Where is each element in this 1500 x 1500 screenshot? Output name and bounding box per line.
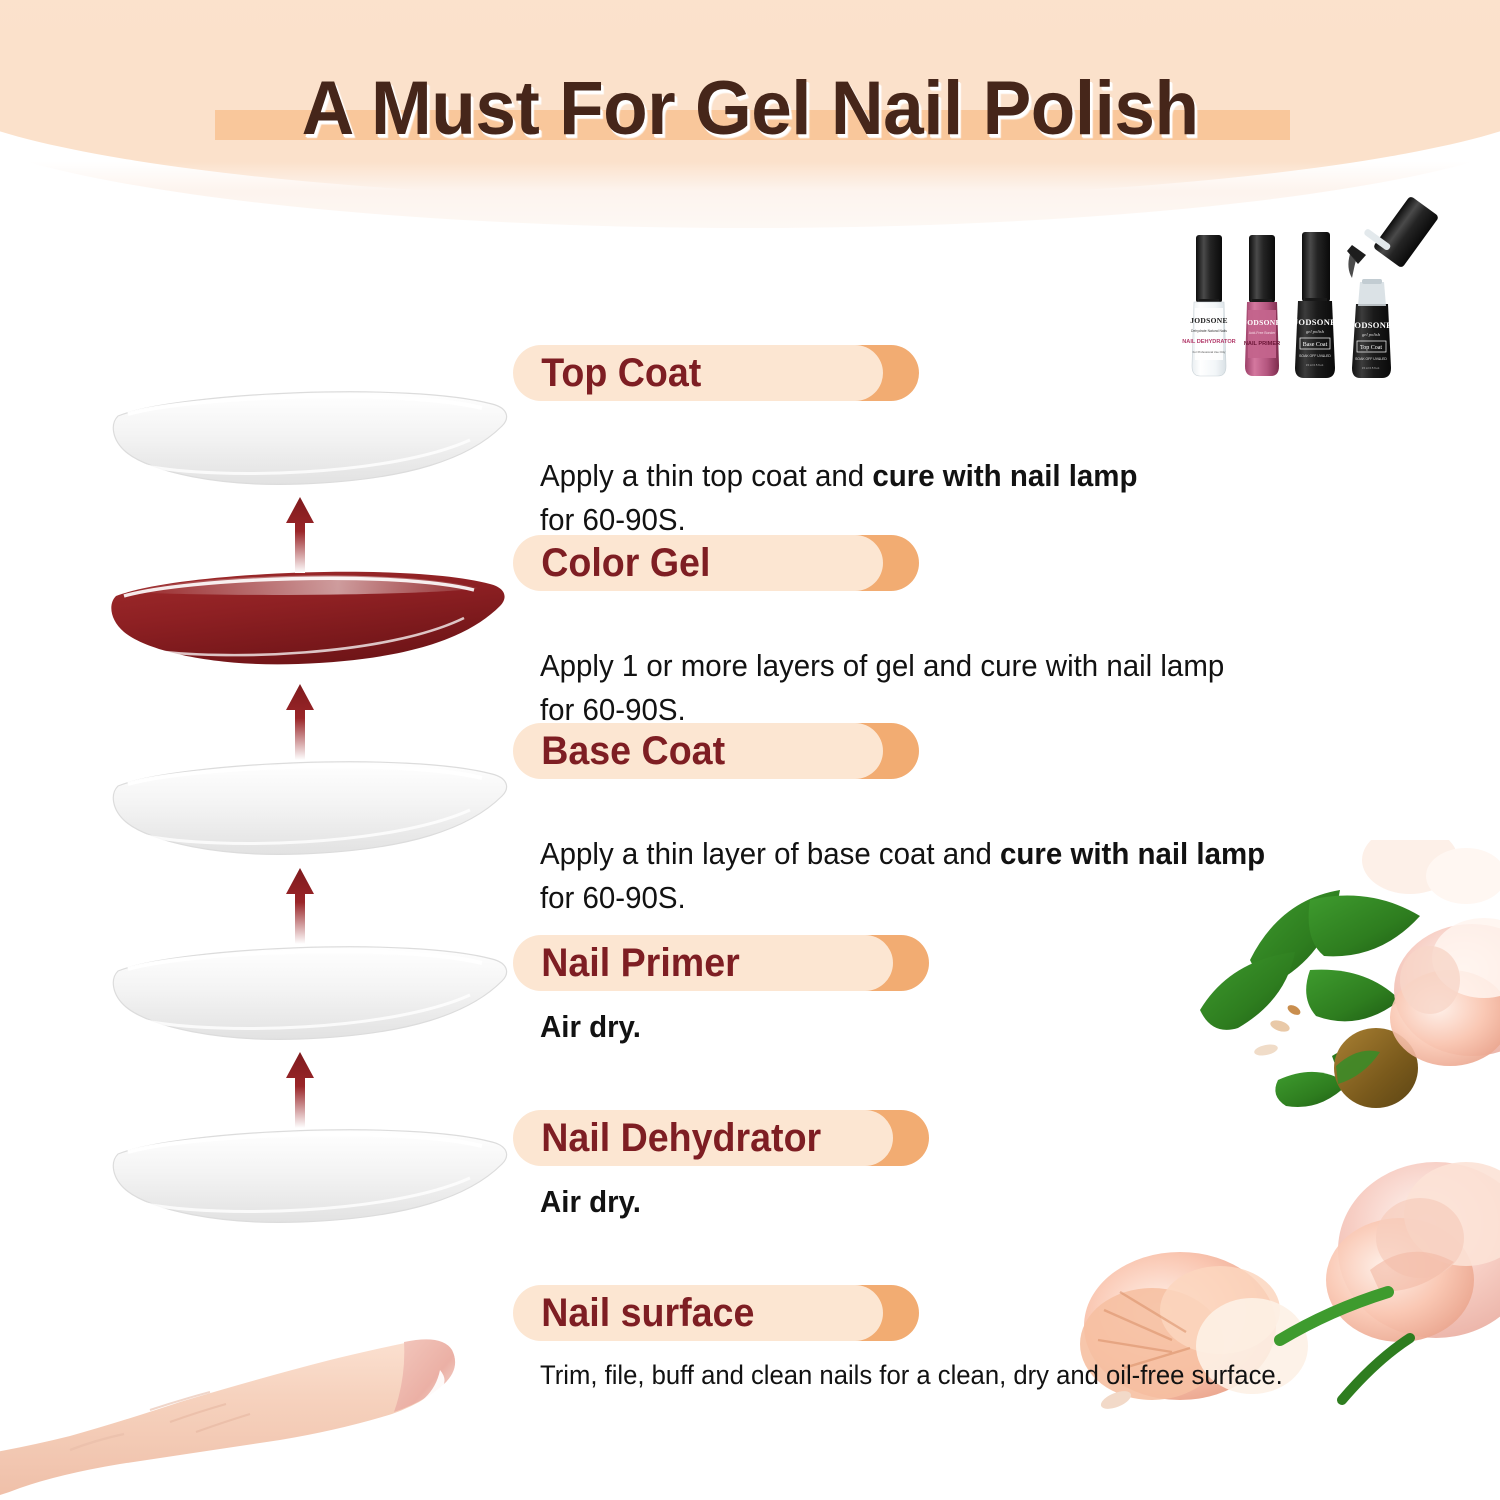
body-text-bold: cure with nail lamp [872, 458, 1137, 493]
bottle-primer: JODSONE Acid-Free Bonder NAIL PRIMER [1243, 235, 1281, 376]
step-pill-color-gel: Color Gel [513, 535, 757, 591]
infographic-page: A Must For Gel Nail Polish [0, 0, 1500, 1500]
arrow-up-icon-2 [283, 682, 317, 760]
arrow-up-icon-1 [283, 495, 317, 573]
step-body-color-gel: Apply 1 or more layers of gel and cure w… [540, 601, 1224, 731]
svg-text:NAIL DEHYDRATOR: NAIL DEHYDRATOR [1182, 339, 1235, 345]
step-body-nail-surface: Trim, file, buff and clean nails for a c… [540, 1357, 1283, 1395]
step-pill-nail-surface: Nail surface [513, 1285, 804, 1341]
step-color-gel: Color Gel Apply 1 or more layers of gel … [513, 535, 1260, 731]
step-label-nail-surface: Nail surface [513, 1285, 786, 1341]
svg-text:NAIL PRIMER: NAIL PRIMER [1244, 341, 1280, 347]
step-body-nail-dehydrator: Air dry. [540, 1180, 858, 1223]
step-nail-surface: Nail surface Trim, file, buff and clean … [513, 1285, 1322, 1395]
step-pill-nail-dehydrator: Nail Dehydrator [513, 1110, 875, 1166]
brush-applicator [1347, 196, 1439, 278]
bottle-dehydrator: JODSONE Dehydrate Natural Nails NAIL DEH… [1182, 235, 1235, 376]
svg-text:Top Coat: Top Coat [1360, 345, 1382, 351]
petal-top [1362, 840, 1500, 904]
page-title: A Must For Gel Nail Polish [302, 65, 1199, 152]
body-text-bold: cure with nail lamp [1000, 836, 1265, 871]
svg-text:gel polish: gel polish [1306, 329, 1325, 334]
svg-text:Base Coat: Base Coat [1303, 342, 1328, 348]
bottle-top-coat: JODSONE gel polish Top Coat SOAK OFF UV&… [1350, 279, 1392, 378]
layer-plate-base-coat [110, 750, 510, 862]
step-label-top-coat: Top Coat [513, 345, 733, 401]
step-pill-top-coat: Top Coat [513, 345, 747, 401]
step-label-base-coat: Base Coat [513, 723, 757, 779]
page-title-container: A Must For Gel Nail Polish [0, 62, 1500, 154]
layer-plate-top-coat [110, 380, 510, 492]
body-text-tail: for 60-90S. [540, 502, 686, 537]
layer-plate-color-gel [108, 560, 508, 672]
bottle-base-coat: JODSONE gel polish Base Coat SOAK OFF UV… [1294, 232, 1336, 378]
arrow-up-icon-4 [283, 1050, 317, 1128]
step-nail-primer: Nail Primer Air dry. [513, 935, 788, 1048]
svg-text:Dehydrate Natural Nails: Dehydrate Natural Nails [1191, 329, 1227, 333]
svg-text:15 ml 0.5 fl.oz.: 15 ml 0.5 fl.oz. [1362, 366, 1380, 370]
peony-bottom-right [1326, 1162, 1500, 1342]
body-text-plain: Apply a thin top coat and [540, 458, 872, 493]
layer-plate-nail-dehydrator [110, 1118, 510, 1230]
step-pill-nail-primer: Nail Primer [513, 935, 788, 991]
svg-text:Acid-Free Bonder: Acid-Free Bonder [1249, 331, 1276, 335]
step-body-nail-primer: Air dry. [540, 1005, 776, 1048]
svg-text:SOAK OFF UV&LED: SOAK OFF UV&LED [1355, 357, 1387, 361]
svg-text:15 ml 0.5 fl.oz.: 15 ml 0.5 fl.oz. [1306, 363, 1324, 367]
svg-text:gel polish: gel polish [1362, 332, 1381, 337]
step-base-coat: Base Coat Apply a thin layer of base coa… [513, 723, 1303, 919]
step-label-color-gel: Color Gel [513, 535, 742, 591]
body-text-plain: Apply a thin layer of base coat and [540, 836, 1000, 871]
step-label-nail-primer: Nail Primer [513, 935, 772, 991]
svg-text:JODSONE: JODSONE [1350, 320, 1392, 330]
finger-illustration [0, 1250, 500, 1500]
svg-text:SOAK OFF UV&LED: SOAK OFF UV&LED [1299, 354, 1331, 358]
step-pill-base-coat: Base Coat [513, 723, 773, 779]
step-nail-dehydrator: Nail Dehydrator Air dry. [513, 1110, 875, 1223]
svg-text:For Professional Use Only: For Professional Use Only [1193, 350, 1226, 354]
svg-text:JODSONE: JODSONE [1243, 318, 1281, 327]
layer-plate-nail-primer [110, 935, 510, 1047]
body-text-tail: for 60-90S. [540, 880, 686, 915]
svg-text:JODSONE: JODSONE [1294, 317, 1336, 327]
svg-text:JODSONE: JODSONE [1190, 316, 1228, 325]
step-body-base-coat: Apply a thin layer of base coat and cure… [540, 789, 1265, 919]
step-top-coat: Top Coat Apply a thin top coat and cure … [513, 345, 1169, 541]
step-label-nail-dehydrator: Nail Dehydrator [513, 1110, 853, 1166]
peony-top-right [1390, 918, 1500, 1066]
arrow-up-icon-3 [283, 866, 317, 944]
product-bottles-group: JODSONE Dehydrate Natural Nails NAIL DEH… [1180, 186, 1500, 401]
step-body-top-coat: Apply a thin top coat and cure with nail… [540, 411, 1137, 541]
body-text-plain: Apply 1 or more layers of gel and cure w… [540, 648, 1224, 726]
flower-decoration [1080, 840, 1500, 1500]
